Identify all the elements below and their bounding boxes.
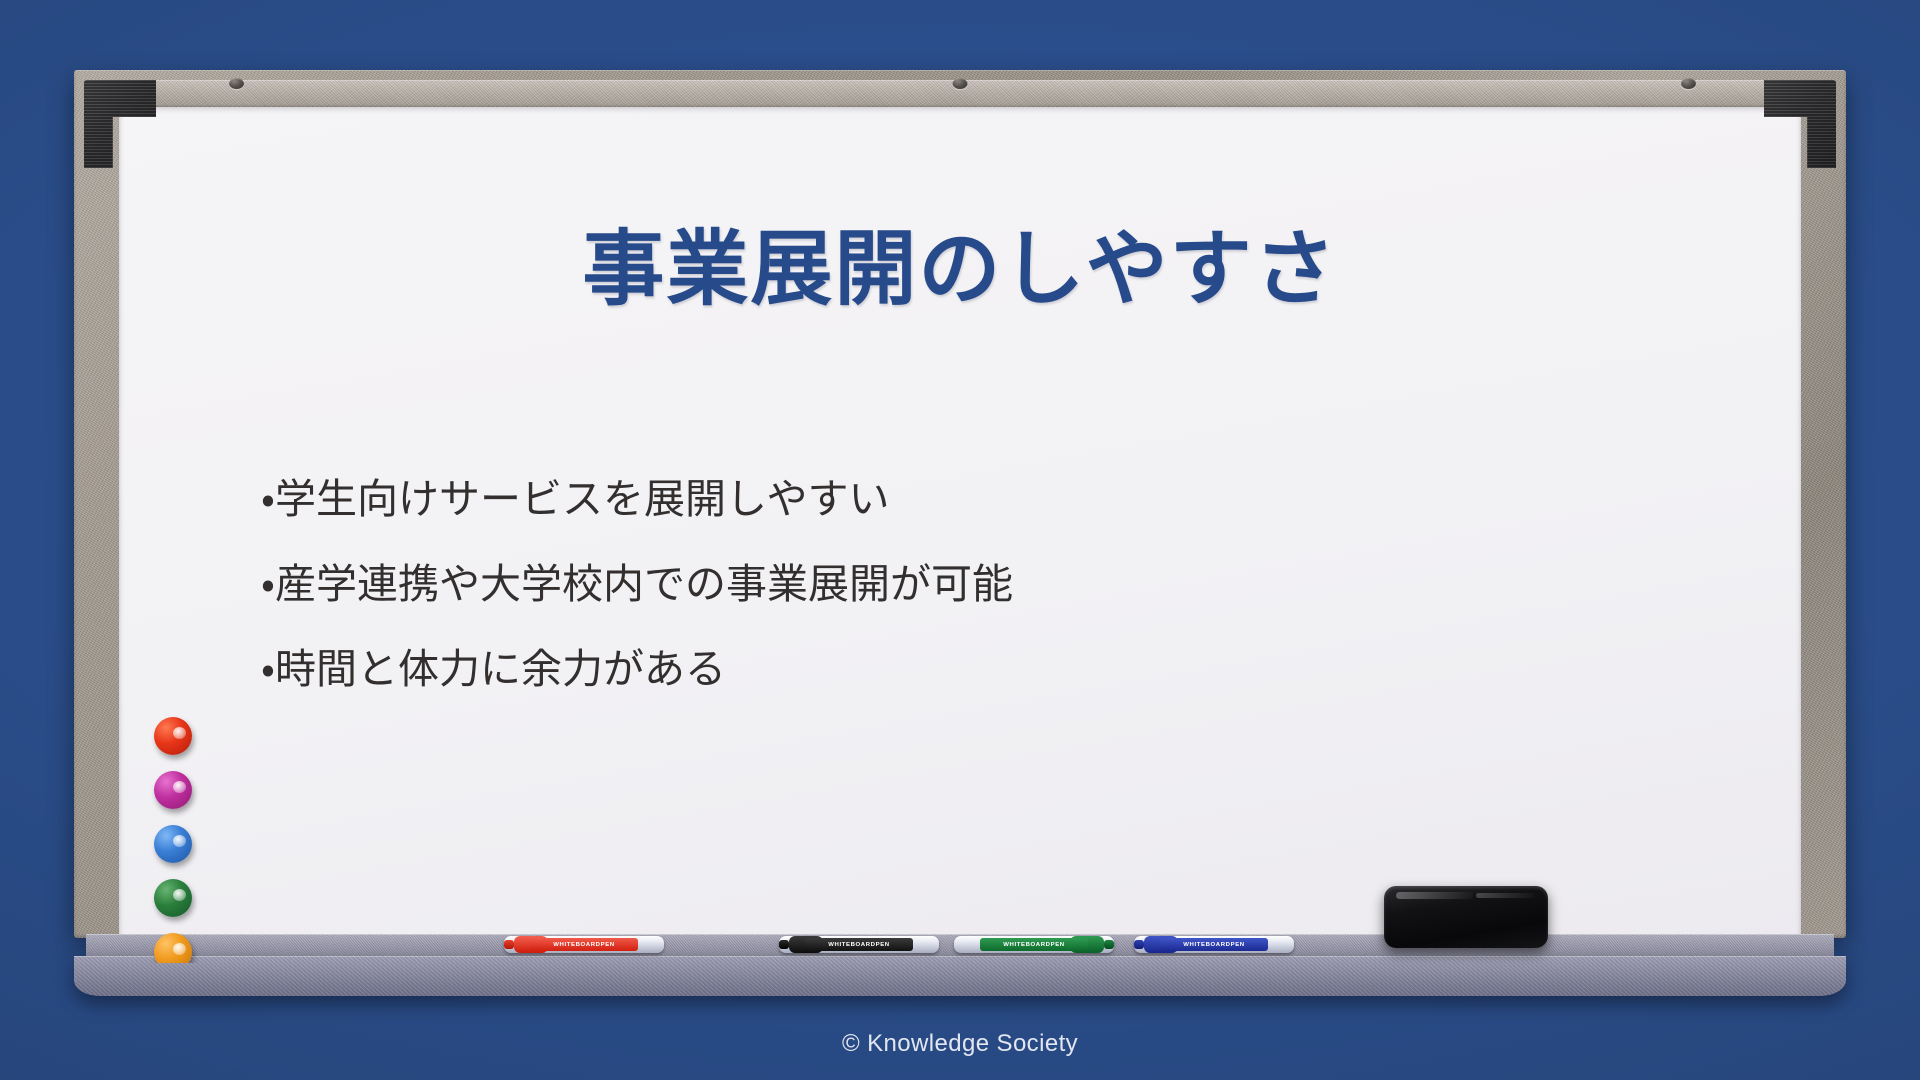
copyright-footer: © Knowledge Society — [0, 1030, 1920, 1058]
black-marker[interactable]: WHITEBOARDPEN — [779, 936, 939, 953]
marker-nib — [1104, 940, 1114, 949]
magnet-orange[interactable] — [154, 933, 192, 963]
bullet-item-2: ・産学連携や大学校内での事業展開が可能 — [261, 564, 1681, 605]
magnet-blue[interactable] — [154, 825, 192, 863]
bullet-list: ・学生向けサービスを展開しやすい ・産学連携や大学校内での事業展開が可能 ・時間… — [261, 479, 1681, 734]
marker-band: WHITEBOARDPEN — [530, 938, 638, 951]
marker-band: WHITEBOARDPEN — [1160, 938, 1268, 951]
bullet-item-3: ・時間と体力に余力がある — [261, 649, 1681, 690]
bullet-item-1: ・学生向けサービスを展開しやすい — [261, 479, 1681, 520]
marker-nib — [1134, 940, 1144, 949]
marker-band: WHITEBOARDPEN — [805, 938, 913, 951]
whiteboard-surface: 事業展開のしやすさ ・学生向けサービスを展開しやすい ・産学連携や大学校内での事… — [119, 107, 1801, 963]
presentation-slide: 事業展開のしやすさ ・学生向けサービスを展開しやすい ・産学連携や大学校内での事… — [0, 0, 1920, 1080]
magnet-strip — [154, 717, 192, 963]
red-marker[interactable]: WHITEBOARDPEN — [504, 936, 664, 953]
frame-screw-center — [953, 78, 968, 89]
slide-title: 事業展開のしやすさ — [119, 227, 1801, 313]
whiteboard-pen-tray: WHITEBOARDPEN WHITEBOARDPEN WHITEBOARDPE… — [74, 934, 1846, 996]
whiteboard-eraser[interactable] — [1384, 886, 1548, 948]
green-marker[interactable]: WHITEBOARDPEN — [954, 936, 1114, 953]
marker-band: WHITEBOARDPEN — [980, 938, 1088, 951]
marker-nib — [779, 940, 789, 949]
blue-marker[interactable]: WHITEBOARDPEN — [1134, 936, 1294, 953]
whiteboard: 事業展開のしやすさ ・学生向けサービスを展開しやすい ・産学連携や大学校内での事… — [74, 70, 1846, 996]
slide-content: 事業展開のしやすさ ・学生向けサービスを展開しやすい ・産学連携や大学校内での事… — [119, 107, 1801, 963]
pen-tray-front — [74, 956, 1846, 996]
marker-label: WHITEBOARDPEN — [828, 942, 889, 947]
marker-nib — [504, 940, 514, 949]
marker-label: WHITEBOARDPEN — [553, 942, 614, 947]
magnet-magenta[interactable] — [154, 771, 192, 809]
frame-screw-right — [1681, 78, 1696, 89]
marker-label: WHITEBOARDPEN — [1003, 942, 1064, 947]
marker-label: WHITEBOARDPEN — [1183, 942, 1244, 947]
magnet-green[interactable] — [154, 879, 192, 917]
magnet-red[interactable] — [154, 717, 192, 755]
frame-screw-left — [229, 78, 244, 89]
